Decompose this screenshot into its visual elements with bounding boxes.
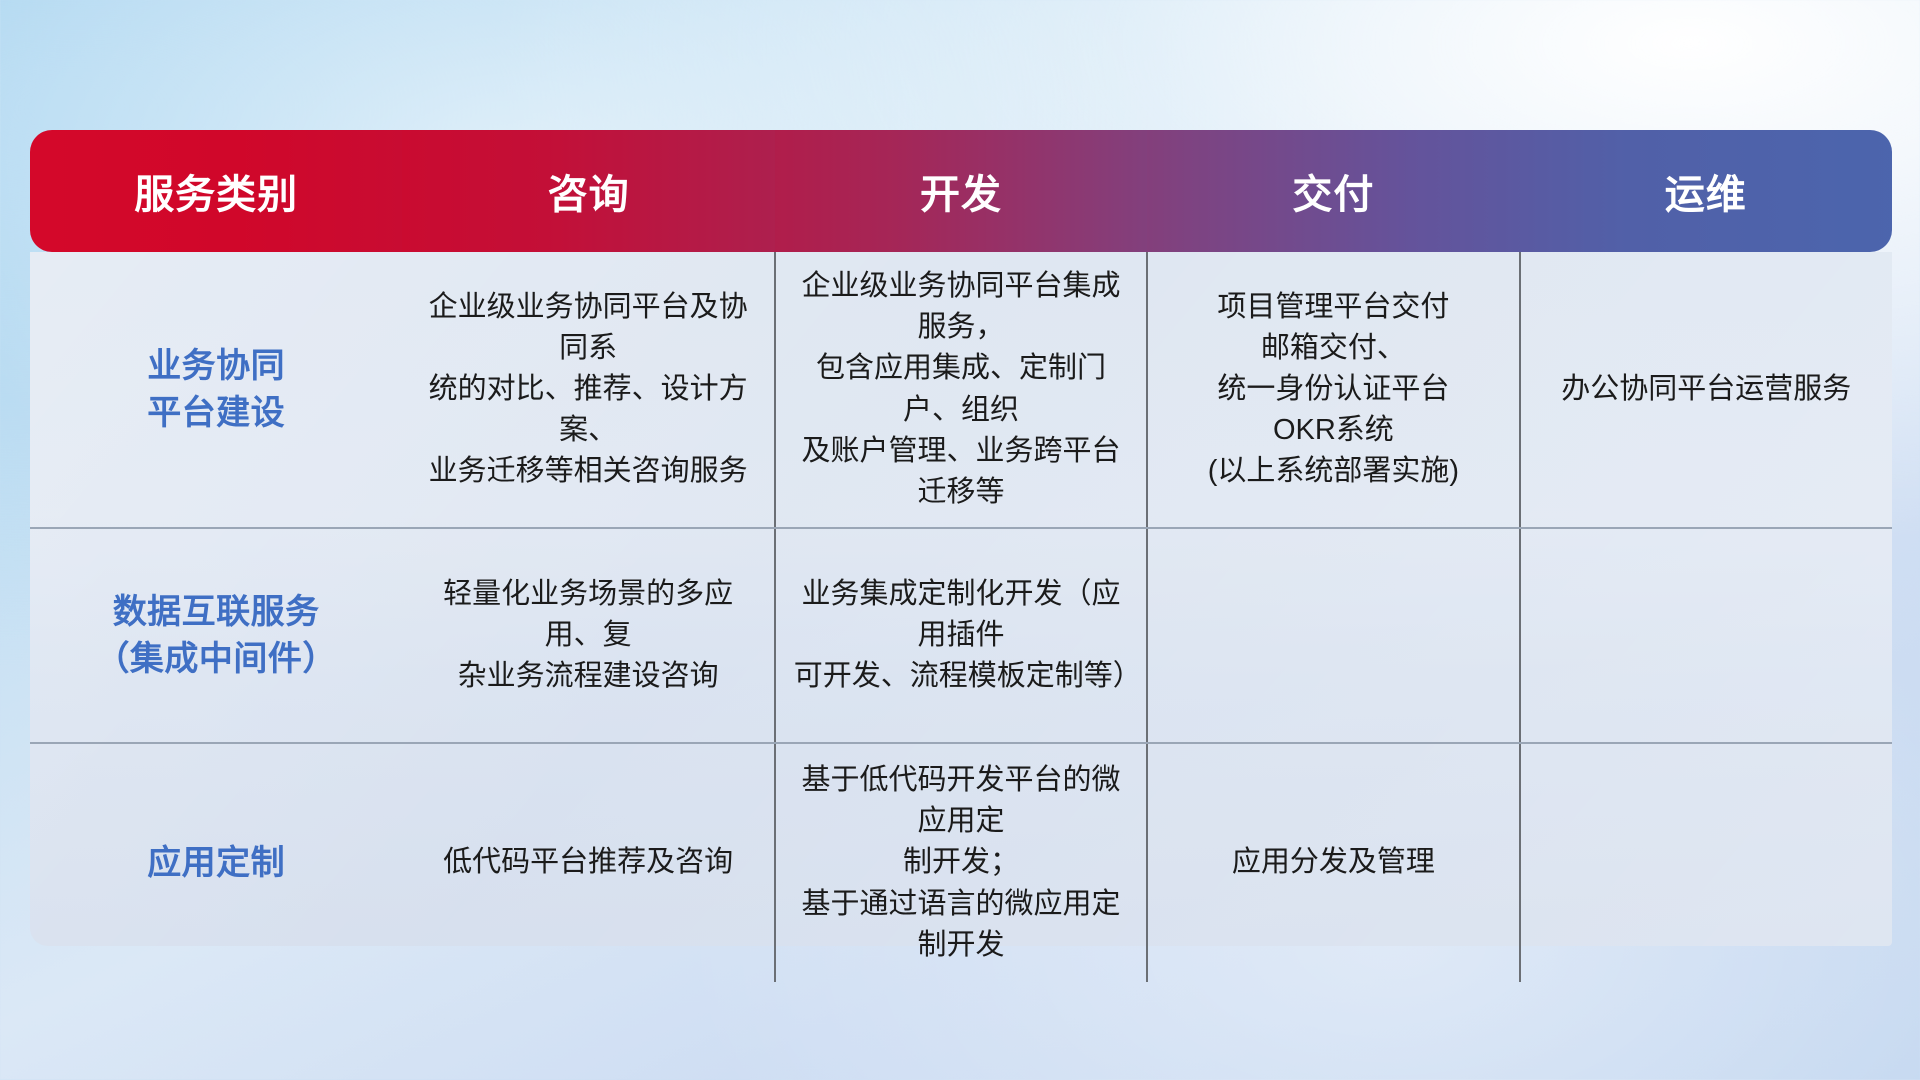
cell-operations-3 <box>1520 743 1892 982</box>
cell-category-3: 应用定制 <box>30 743 402 982</box>
cell-operations-2 <box>1520 528 1892 743</box>
cell-consulting-1: 企业级业务协同平台及协同系 统的对比、推荐、设计方案、 业务迁移等相关咨询服务 <box>402 252 774 528</box>
cell-delivery-2 <box>1147 528 1519 743</box>
service-matrix-table-container: 服务类别 咨询 开发 交付 运维 业务协同 平台建设 企业级业务协同平台及协同系… <box>30 130 1892 946</box>
cell-consulting-3: 低代码平台推荐及咨询 <box>402 743 774 982</box>
cell-category-2: 数据互联服务 （集成中间件） <box>30 528 402 743</box>
cell-development-3: 基于低代码开发平台的微应用定 制开发； 基于通过语言的微应用定制开发 <box>775 743 1147 982</box>
cell-operations-1: 办公协同平台运营服务 <box>1520 252 1892 528</box>
column-header-category[interactable]: 服务类别 <box>30 130 402 252</box>
cell-development-1: 企业级业务协同平台集成服务， 包含应用集成、定制门户、组织 及账户管理、业务跨平… <box>775 252 1147 528</box>
table-row: 业务协同 平台建设 企业级业务协同平台及协同系 统的对比、推荐、设计方案、 业务… <box>30 252 1892 528</box>
column-header-operations[interactable]: 运维 <box>1520 130 1892 252</box>
cell-delivery-1: 项目管理平台交付 邮箱交付、 统一身份认证平台 OKR系统 (以上系统部署实施) <box>1147 252 1519 528</box>
service-matrix-table: 服务类别 咨询 开发 交付 运维 业务协同 平台建设 企业级业务协同平台及协同系… <box>30 130 1892 982</box>
cell-development-2: 业务集成定制化开发（应用插件 可开发、流程模板定制等） <box>775 528 1147 743</box>
column-header-consulting[interactable]: 咨询 <box>402 130 774 252</box>
cell-category-1: 业务协同 平台建设 <box>30 252 402 528</box>
cell-delivery-3: 应用分发及管理 <box>1147 743 1519 982</box>
table-header: 服务类别 咨询 开发 交付 运维 <box>30 130 1892 252</box>
table-row: 应用定制 低代码平台推荐及咨询 基于低代码开发平台的微应用定 制开发； 基于通过… <box>30 743 1892 982</box>
table-row: 数据互联服务 （集成中间件） 轻量化业务场景的多应用、复 杂业务流程建设咨询 业… <box>30 528 1892 743</box>
table-body: 业务协同 平台建设 企业级业务协同平台及协同系 统的对比、推荐、设计方案、 业务… <box>30 252 1892 982</box>
cell-consulting-2: 轻量化业务场景的多应用、复 杂业务流程建设咨询 <box>402 528 774 743</box>
table-header-row: 服务类别 咨询 开发 交付 运维 <box>30 130 1892 252</box>
column-header-delivery[interactable]: 交付 <box>1147 130 1519 252</box>
column-header-development[interactable]: 开发 <box>775 130 1147 252</box>
